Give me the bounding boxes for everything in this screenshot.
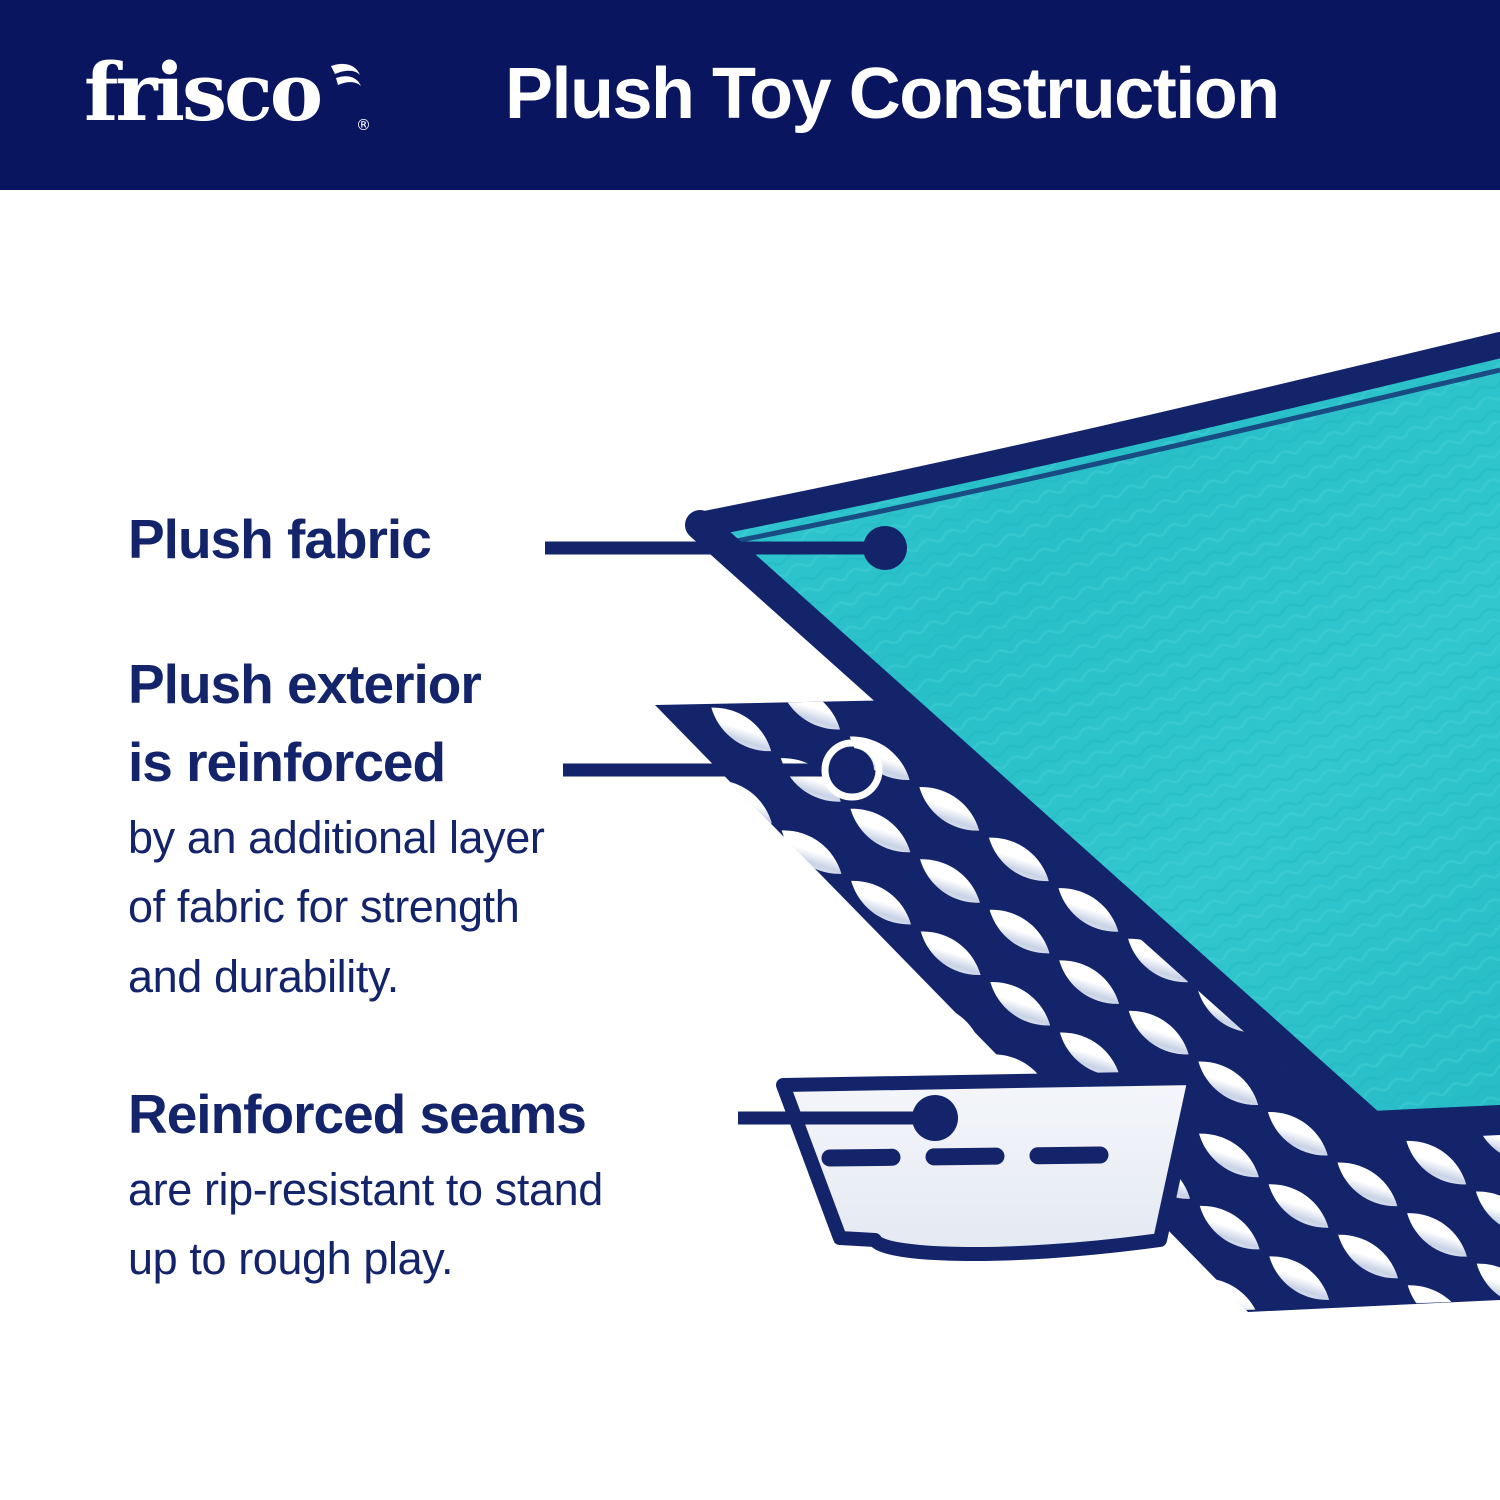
mesh-cell: [910, 560, 985, 624]
mesh-cell: [840, 510, 915, 574]
mesh-cell: [983, 972, 1058, 1036]
mesh-cell: [636, 863, 711, 927]
mesh-cell: [1329, 1008, 1404, 1072]
mesh-cell: [1331, 1297, 1406, 1361]
mesh-cell: [1468, 1181, 1500, 1245]
mesh-cell: [1327, 863, 1402, 927]
mesh-cell: [1258, 813, 1333, 877]
mesh-cell: [364, 1311, 439, 1375]
mesh-cell: [226, 1282, 301, 1346]
mesh-cell: [0, 1441, 26, 1500]
mesh-cell: [1195, 1484, 1270, 1500]
mesh-cell: [707, 1058, 782, 1122]
mesh-cell: [703, 625, 778, 689]
label-plush-fabric: Plush fabric: [128, 500, 431, 578]
mesh-cell: [1054, 1167, 1129, 1231]
mesh-cell: [1400, 1203, 1475, 1267]
mesh-cell: [1398, 1058, 1473, 1122]
mesh-cell: [1057, 1455, 1132, 1500]
mesh-cell: [20, 1419, 95, 1483]
leader-lines: [545, 526, 958, 1141]
mesh-cell: [631, 358, 706, 422]
mesh-cell: [846, 1087, 921, 1151]
mesh-cell: [986, 1333, 1061, 1397]
mesh-cell: [709, 1275, 784, 1339]
mesh-cell: [1468, 1109, 1500, 1173]
mesh-cell: [778, 1253, 853, 1317]
mesh-cell: [1259, 957, 1334, 1021]
mesh-cell: [985, 1188, 1060, 1252]
mesh-cell: [426, 567, 501, 631]
mesh-cell: [297, 1477, 372, 1500]
mesh-cell: [849, 1376, 924, 1440]
mesh-cell: [357, 589, 432, 653]
mesh-cell: [1193, 1268, 1268, 1332]
mesh-cell: [1194, 1412, 1269, 1476]
mesh-cell: [636, 791, 711, 855]
mesh-cell: [1470, 1326, 1500, 1390]
mesh-cell: [1056, 1383, 1131, 1447]
mesh-cell: [1258, 885, 1333, 949]
mesh-cell: [426, 495, 501, 559]
mesh-cell: [844, 871, 919, 935]
label-reinforced-seams: Reinforced seams are rip-resistant to st…: [128, 1075, 603, 1292]
mesh-cell: [1189, 835, 1264, 899]
mesh-cell: [914, 993, 989, 1057]
mesh-cell: [706, 914, 781, 978]
mesh-cell: [1332, 1369, 1407, 1433]
mesh-cell: [984, 1044, 1059, 1108]
mesh-cell: [0, 1008, 22, 1072]
plush-fabric-fold-edge: [700, 525, 1500, 1126]
mesh-cell: [913, 849, 988, 913]
mesh-cell: [1122, 1073, 1197, 1137]
label-plush-exterior: Plush exterior is reinforced by an addit…: [128, 645, 544, 1009]
mesh-cell: [918, 1427, 993, 1491]
mesh-cell: [846, 1159, 921, 1223]
mesh-cell: [1400, 1275, 1475, 1339]
mesh-cell: [1263, 1390, 1338, 1454]
mesh-cell: [0, 1224, 24, 1288]
mesh-cell: [1052, 950, 1127, 1014]
mesh-cell: [565, 596, 640, 660]
mesh-cell: [917, 1354, 992, 1418]
mesh-cell: [504, 1484, 579, 1500]
mesh-cell: [981, 827, 1056, 891]
mesh-cell: [1125, 1362, 1200, 1426]
mesh-cell: [1402, 1419, 1477, 1483]
mesh-cell: [1120, 856, 1195, 920]
mesh-cell: [849, 1448, 924, 1500]
mesh-cell: [913, 921, 988, 985]
mesh-cell: [565, 668, 640, 732]
mesh-cell: [0, 1080, 22, 1144]
mesh-cell: [774, 820, 849, 884]
mesh-cell: [1191, 1051, 1266, 1115]
mesh-cell: [915, 1138, 990, 1202]
mesh-cell: [17, 1130, 92, 1194]
mesh-cell: [702, 553, 777, 617]
mesh-cell: [1050, 806, 1125, 870]
mesh-cell: [982, 900, 1057, 964]
mesh-cell: [0, 1296, 24, 1360]
mesh-cell: [227, 1354, 302, 1418]
mesh-cell: [771, 459, 846, 523]
mesh-cell: [573, 1463, 648, 1500]
leader-dot-ring-plush-exterior: [825, 743, 879, 797]
mesh-cell: [640, 1224, 715, 1288]
mesh-cell: [563, 380, 638, 444]
mesh-cell: [0, 1152, 23, 1216]
mesh-cell: [986, 1260, 1061, 1324]
label-plush-exterior-heading-line2: is reinforced: [128, 723, 544, 801]
mesh-cell: [365, 1383, 440, 1447]
mesh-cell: [641, 1369, 716, 1433]
mesh-cell: [19, 1275, 94, 1339]
mesh-cell: [1466, 965, 1500, 1029]
mesh-cell: [773, 748, 848, 812]
mesh-cell: [634, 647, 709, 711]
mesh-cell: [563, 452, 638, 516]
mesh-cell: [642, 1441, 717, 1500]
mesh-cell: [1263, 1318, 1338, 1382]
mesh-cell: [842, 726, 917, 790]
mesh-cell: [1188, 762, 1263, 826]
mesh-cell: [89, 1398, 164, 1462]
mesh-cell: [710, 1347, 785, 1411]
label-reinforced-seams-body-line1: are rip-resistant to stand: [128, 1157, 603, 1222]
mesh-cell: [424, 351, 499, 415]
mesh-cell: [1052, 1022, 1127, 1086]
mesh-cell: [492, 257, 567, 321]
plush-fabric-inner-crease: [716, 370, 1500, 545]
mesh-cell: [910, 632, 985, 696]
leader-dot-reinforced-seams: [912, 1095, 958, 1141]
mesh-cell: [775, 964, 850, 1028]
mesh-cell: [18, 1203, 93, 1267]
mesh-cell: [848, 1304, 923, 1368]
mesh-cell: [1397, 986, 1472, 1050]
mesh-cell: [567, 885, 642, 949]
mesh-cell: [1118, 712, 1193, 776]
mesh-cell: [639, 1152, 714, 1216]
label-plush-exterior-heading-line1: Plush exterior: [128, 645, 544, 723]
mesh-cell: [566, 741, 641, 805]
mesh-cell: [981, 755, 1056, 819]
mesh-cell: [778, 1181, 853, 1245]
mesh-cell: [366, 1455, 441, 1500]
mesh-cell: [16, 986, 91, 1050]
reinforced-seam-flap: [783, 1078, 1195, 1254]
mesh-cell: [88, 1325, 163, 1389]
mesh-cell: [1121, 1001, 1196, 1065]
frisco-swoosh-icon-2: [336, 76, 361, 86]
mesh-cell: [1125, 1434, 1200, 1498]
mesh-cell: [847, 1232, 922, 1296]
mesh-cell: [572, 1390, 647, 1454]
mesh-cell: [1329, 1080, 1404, 1144]
mesh-cell: [494, 473, 569, 537]
mesh-cell: [1192, 1196, 1267, 1260]
mesh-cell: [564, 524, 639, 588]
mesh-cell: [705, 842, 780, 906]
mesh-cell: [1401, 1347, 1476, 1411]
label-reinforced-seams-heading: Reinforced seams: [128, 1075, 603, 1153]
mesh-cell: [841, 582, 916, 646]
mesh-cell: [777, 1109, 852, 1173]
frisco-swoosh-icon: [331, 64, 360, 75]
header-bar: frisco ® Plush Toy Construction: [0, 0, 1500, 190]
mesh-cell: [15, 914, 90, 978]
mesh-cell: [979, 611, 1054, 675]
mesh-cell: [1260, 1102, 1335, 1166]
mesh-cell: [1054, 1239, 1129, 1303]
label-plush-fabric-heading: Plush fabric: [128, 500, 431, 578]
mesh-cell: [638, 1008, 713, 1072]
mesh-cell: [1333, 1441, 1408, 1500]
mesh-cell: [503, 1412, 578, 1476]
mesh-cell: [844, 943, 919, 1007]
mesh-cell: [503, 1340, 578, 1404]
mesh-cell: [562, 307, 637, 371]
mesh-cell: [988, 1477, 1063, 1500]
mesh-cell: [1469, 1253, 1500, 1317]
mesh-cell: [779, 1325, 854, 1389]
label-plush-exterior-body-line1: by an additional layer: [128, 805, 544, 870]
mesh-cell: [771, 531, 846, 595]
mesh-cell: [707, 986, 782, 1050]
mesh-cell: [1260, 1030, 1335, 1094]
mesh-cell: [89, 1470, 164, 1500]
mesh-cell: [641, 1297, 716, 1361]
mesh-cell: [1123, 1145, 1198, 1209]
mesh-cell: [773, 676, 848, 740]
mesh-cell: [572, 1318, 647, 1382]
label-reinforced-seams-body-line2: up to rough play.: [128, 1226, 603, 1291]
mesh-cell: [711, 1419, 786, 1483]
mesh-cell: [912, 777, 987, 841]
mesh-cell: [19, 1347, 94, 1411]
mesh-cell: [433, 1289, 508, 1353]
mesh-cell: [295, 1333, 370, 1397]
mesh-cell: [157, 1304, 232, 1368]
mesh-cell: [1402, 1492, 1477, 1500]
mesh-cell: [984, 1116, 1059, 1180]
seam-flap-shape: [783, 1078, 1195, 1254]
mesh-cell: [1190, 979, 1265, 1043]
mesh-cell: [1467, 1037, 1500, 1101]
mesh-cell: [567, 813, 642, 877]
mesh-cell: [701, 409, 776, 473]
mesh-cell: [1055, 1311, 1130, 1375]
mesh-cell: [1189, 907, 1264, 971]
mesh-cell: [842, 654, 917, 718]
mesh-cell: [1194, 1340, 1269, 1404]
mesh-cell: [637, 936, 712, 1000]
plush-fabric-fill: [700, 345, 1500, 1125]
mesh-cell: [1124, 1289, 1199, 1353]
frisco-wordmark-text: frisco: [84, 45, 321, 139]
frisco-registered-mark: ®: [356, 116, 371, 134]
mesh-cell: [1051, 878, 1126, 942]
mesh-cell: [634, 575, 709, 639]
mesh-cell: [1331, 1224, 1406, 1288]
page-title: Plush Toy Construction: [505, 44, 1279, 144]
mesh-cell: [1330, 1152, 1405, 1216]
mesh-cell: [1121, 928, 1196, 992]
mesh-cell: [434, 1361, 509, 1425]
mesh-cell: [980, 683, 1055, 747]
label-plush-exterior-body-line2: of fabric for strength: [128, 874, 544, 939]
mesh-cell: [705, 770, 780, 834]
mesh-cell: [435, 1434, 510, 1498]
mesh-cell: [1053, 1094, 1128, 1158]
mesh-cell: [158, 1448, 233, 1500]
mesh-cell: [633, 502, 708, 566]
mesh-cell: [1049, 661, 1124, 725]
mesh-cell: [635, 719, 710, 783]
mesh-cell: [702, 481, 777, 545]
mesh-cell: [1123, 1217, 1198, 1281]
infographic-page: frisco ® Plush Toy Construction: [0, 0, 1500, 1500]
mesh-cell: [1397, 914, 1472, 978]
mesh-cell: [709, 1203, 784, 1267]
mesh-cell: [780, 1398, 855, 1462]
leader-dot-plush-fabric: [863, 526, 907, 570]
mesh-cell: [916, 1210, 991, 1274]
mesh-cell: [495, 546, 570, 610]
leader-dot-plush-exterior: [830, 748, 874, 792]
mesh-cell: [704, 697, 779, 761]
mesh-cell: [845, 1015, 920, 1079]
mesh-cell: [780, 1470, 855, 1500]
mesh-cell: [917, 1282, 992, 1346]
mesh-cell: [493, 329, 568, 393]
mesh-cell: [1262, 1246, 1337, 1310]
plush-fabric-layer: [650, 330, 1500, 1150]
mesh-cell: [775, 892, 850, 956]
plush-fur-texture: [650, 330, 1500, 1150]
mesh-cell: [1328, 936, 1403, 1000]
mesh-cell: [843, 798, 918, 862]
mesh-cell: [21, 1491, 96, 1500]
mesh-cell: [915, 1066, 990, 1130]
mesh-cell: [158, 1376, 233, 1440]
mesh-cell: [711, 1491, 786, 1500]
mesh-cell: [772, 603, 847, 667]
plush-fabric-top-edge: [700, 345, 1500, 525]
mesh-cell: [708, 1130, 783, 1194]
mesh-cell: [568, 957, 643, 1021]
mesh-cell: [0, 1369, 25, 1433]
mesh-cell: [911, 705, 986, 769]
frisco-logo: frisco ®: [84, 44, 384, 144]
mesh-cell: [227, 1426, 302, 1490]
mesh-cell: [1471, 1470, 1500, 1500]
mesh-cell: [987, 1405, 1062, 1469]
seam-stitch-dashes: [830, 1155, 1100, 1158]
mesh-cell: [1399, 1131, 1474, 1195]
mesh-cell: [1050, 733, 1125, 797]
mesh-cell: [638, 1080, 713, 1144]
mesh-cell: [1119, 784, 1194, 848]
mesh-cell: [296, 1405, 371, 1469]
mesh-cell: [430, 1000, 505, 1064]
mesh-cell: [1471, 1398, 1500, 1462]
mesh-cell: [1261, 1174, 1336, 1238]
mesh-cell: [16, 1058, 91, 1122]
mesh-cell: [425, 423, 500, 487]
label-plush-exterior-body-line3: and durability.: [128, 944, 544, 1009]
mesh-cell: [494, 401, 569, 465]
mesh-cell: [632, 430, 707, 494]
mesh-cell: [1264, 1463, 1339, 1500]
mesh-backing: [655, 700, 1500, 1312]
mesh-cell: [154, 1015, 229, 1079]
mesh-cell: [776, 1037, 851, 1101]
mesh-cell: [1192, 1123, 1267, 1187]
frisco-logo-svg: frisco ®: [84, 44, 384, 144]
